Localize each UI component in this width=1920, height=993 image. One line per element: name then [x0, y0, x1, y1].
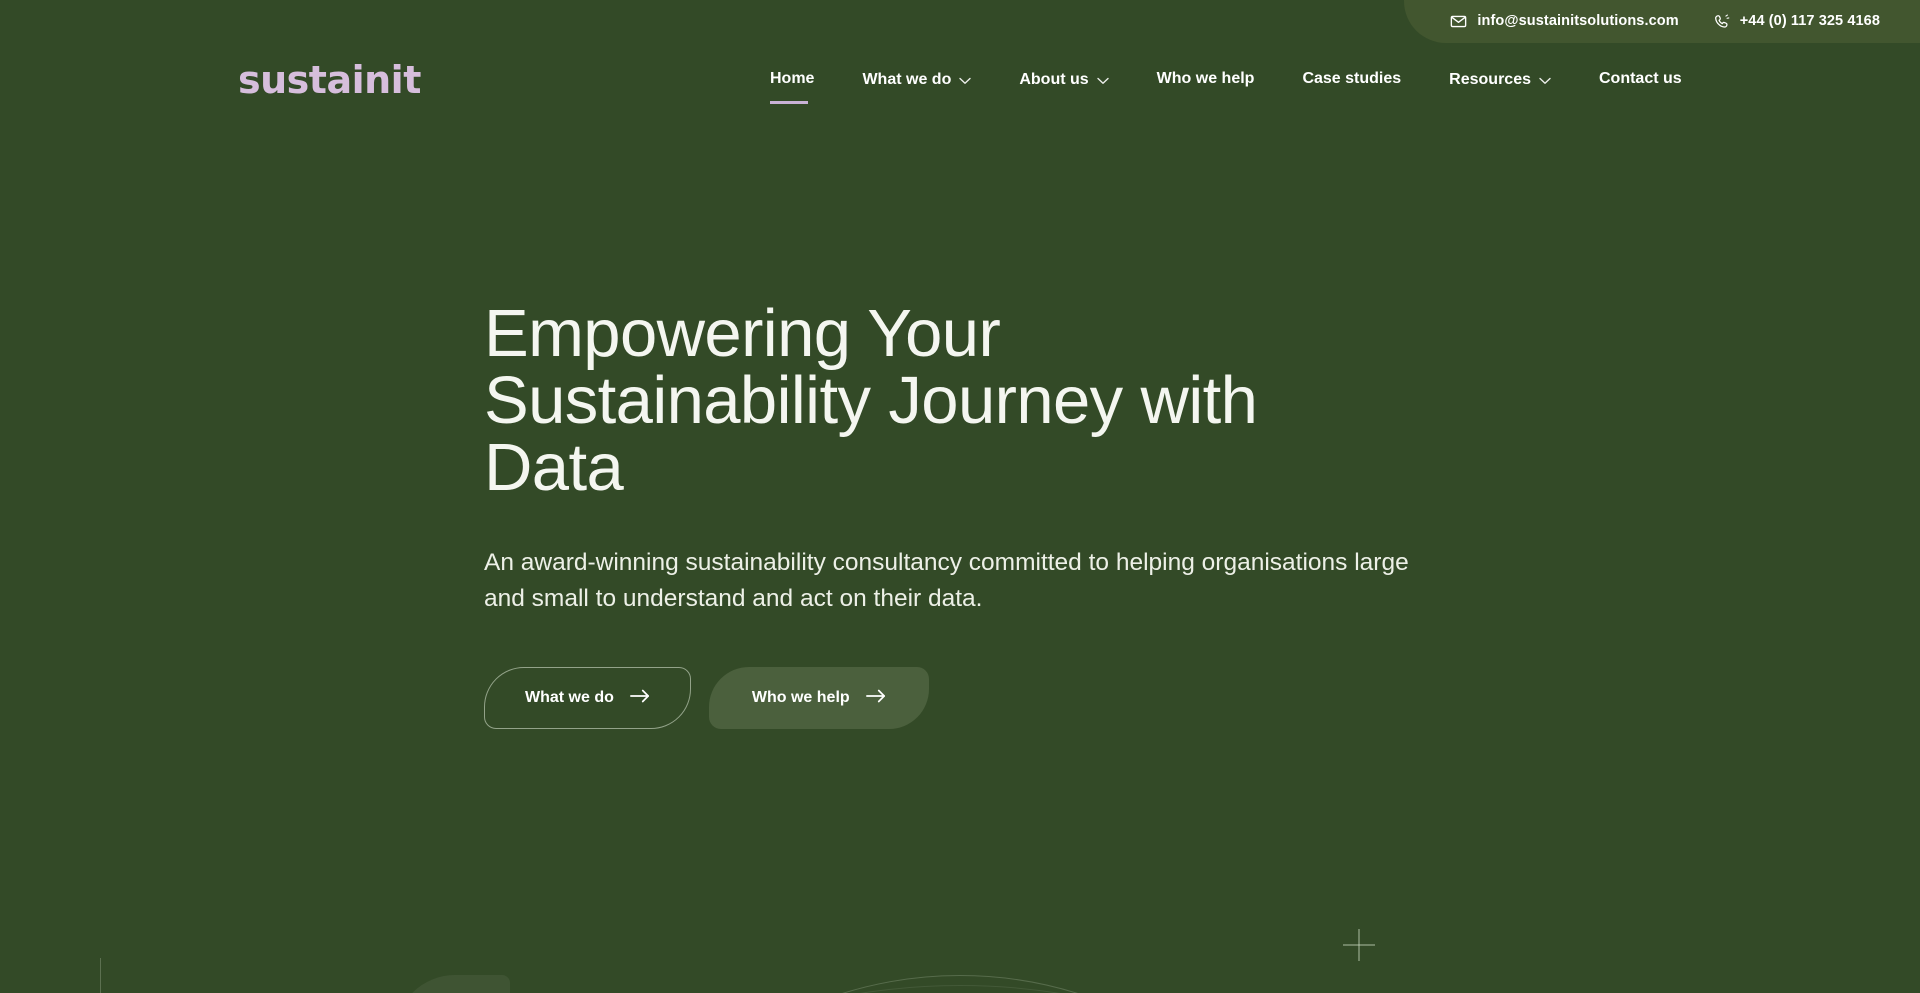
background-circle-outline-outer [330, 985, 1590, 993]
nav-item-label: Case studies [1302, 67, 1401, 91]
main-navigation: Home What we do About us Who we help Cas… [770, 67, 1682, 93]
envelope-icon [1450, 13, 1467, 30]
contact-phone-text: +44 (0) 117 325 4168 [1740, 14, 1880, 29]
contact-phone-link[interactable]: +44 (0) 117 325 4168 [1713, 13, 1880, 30]
arrow-right-icon [630, 688, 650, 708]
page-title: Empowering Your Sustainability Journey w… [484, 300, 1404, 501]
button-label: Who we help [752, 690, 850, 706]
nav-item-resources[interactable]: Resources [1425, 67, 1575, 93]
decorative-blob-shape [395, 975, 510, 993]
contact-email-link[interactable]: info@sustainitsolutions.com [1450, 13, 1678, 30]
hero-subtitle: An award-winning sustainability consulta… [484, 545, 1429, 617]
what-we-do-button[interactable]: What we do [484, 667, 691, 729]
hero-cta-group: What we do Who we help [484, 667, 1464, 729]
chevron-down-icon [1097, 69, 1109, 93]
site-header: sustainit Home What we do About us Who w… [0, 43, 1920, 119]
nav-item-who-we-help[interactable]: Who we help [1133, 67, 1279, 91]
button-label: What we do [525, 690, 614, 706]
nav-item-what-we-do[interactable]: What we do [838, 67, 995, 93]
phone-icon [1713, 13, 1730, 30]
background-circle-outline [565, 975, 1355, 993]
nav-item-case-studies[interactable]: Case studies [1278, 67, 1425, 91]
nav-item-label: Resources [1449, 68, 1531, 92]
vertical-tick-line [100, 958, 101, 993]
nav-item-label: Who we help [1157, 67, 1255, 91]
nav-item-label: What we do [862, 68, 951, 92]
plus-marker-icon [1343, 929, 1375, 961]
contact-bar: info@sustainitsolutions.com +44 (0) 117 … [1404, 0, 1920, 43]
chevron-down-icon [1539, 69, 1551, 93]
arrow-right-icon [866, 688, 886, 708]
nav-item-label: About us [1019, 68, 1088, 92]
nav-item-contact-us[interactable]: Contact us [1575, 67, 1682, 91]
hero-section: Empowering Your Sustainability Journey w… [484, 300, 1464, 729]
contact-email-text: info@sustainitsolutions.com [1477, 14, 1678, 29]
who-we-help-button[interactable]: Who we help [709, 667, 929, 729]
nav-item-about-us[interactable]: About us [995, 67, 1132, 93]
nav-item-home[interactable]: Home [770, 67, 838, 91]
site-logo[interactable]: sustainit [238, 61, 421, 99]
nav-item-label: Contact us [1599, 67, 1682, 91]
chevron-down-icon [959, 69, 971, 93]
nav-item-label: Home [770, 67, 814, 91]
